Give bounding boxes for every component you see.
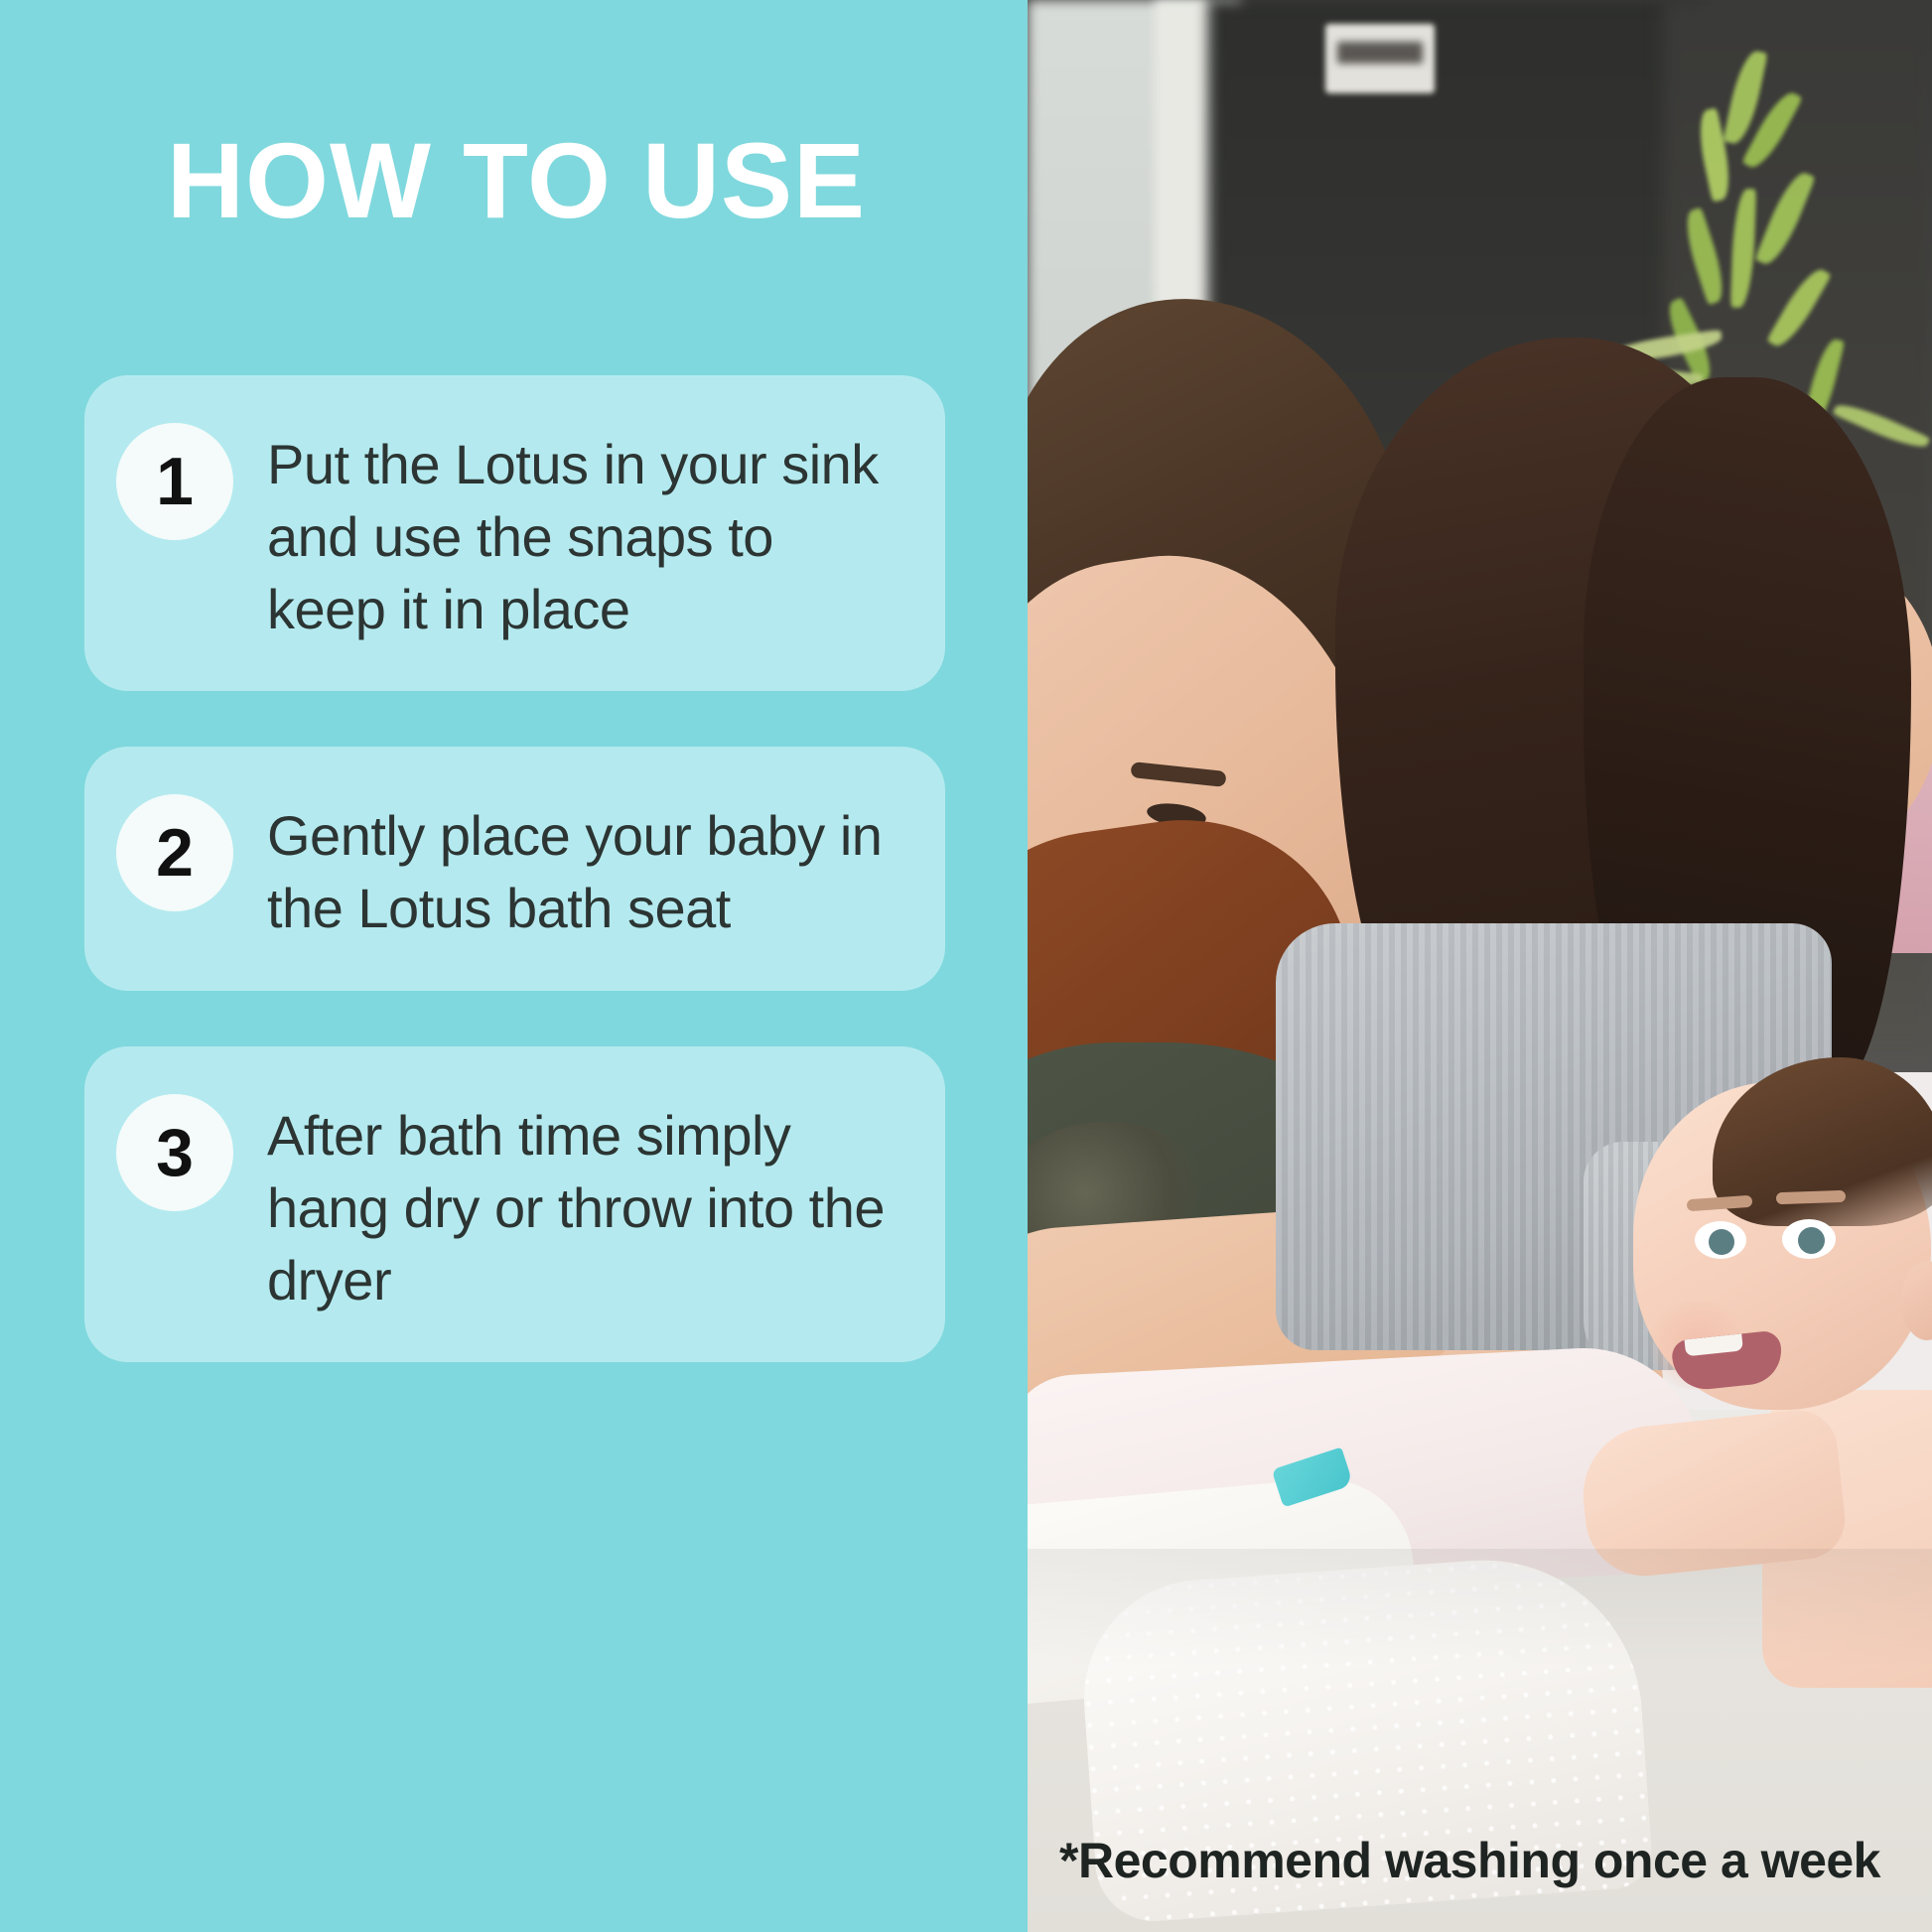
baby-eye-left <box>1695 1221 1746 1259</box>
steps-list: 1 Put the Lotus in your sink and use the… <box>84 375 945 1362</box>
step-description: Put the Lotus in your sink and use the s… <box>267 421 905 645</box>
step-card-1: 1 Put the Lotus in your sink and use the… <box>84 375 945 691</box>
step-description: After bath time simply hang dry or throw… <box>267 1092 905 1316</box>
step-card-3: 3 After bath time simply hang dry or thr… <box>84 1046 945 1362</box>
step-card-2: 2 Gently place your baby in the Lotus ba… <box>84 747 945 991</box>
step-number-badge: 1 <box>116 423 233 540</box>
step-number-badge: 2 <box>116 794 233 911</box>
promo-graphic: HOW TO USE 1 Put the Lotus in your sink … <box>0 0 1932 1932</box>
step-number: 3 <box>156 1119 194 1186</box>
step-number: 1 <box>156 448 194 515</box>
step-number: 2 <box>156 819 194 887</box>
lifestyle-photo: *Recommend washing once a week <box>1028 0 1932 1932</box>
counter-shadow <box>1028 1549 1932 1668</box>
baby-eye-right <box>1782 1219 1836 1259</box>
step-description: Gently place your baby in the Lotus bath… <box>267 792 905 945</box>
step-number-badge: 3 <box>116 1094 233 1211</box>
wall-sign-text <box>1337 42 1423 64</box>
photo-scene <box>1028 0 1932 1932</box>
photo-caption: *Recommend washing once a week <box>1028 1834 1880 1888</box>
page-title: HOW TO USE <box>167 127 866 234</box>
baby-eyebrow-right <box>1776 1190 1846 1204</box>
instructions-panel: HOW TO USE 1 Put the Lotus in your sink … <box>0 0 1028 1932</box>
